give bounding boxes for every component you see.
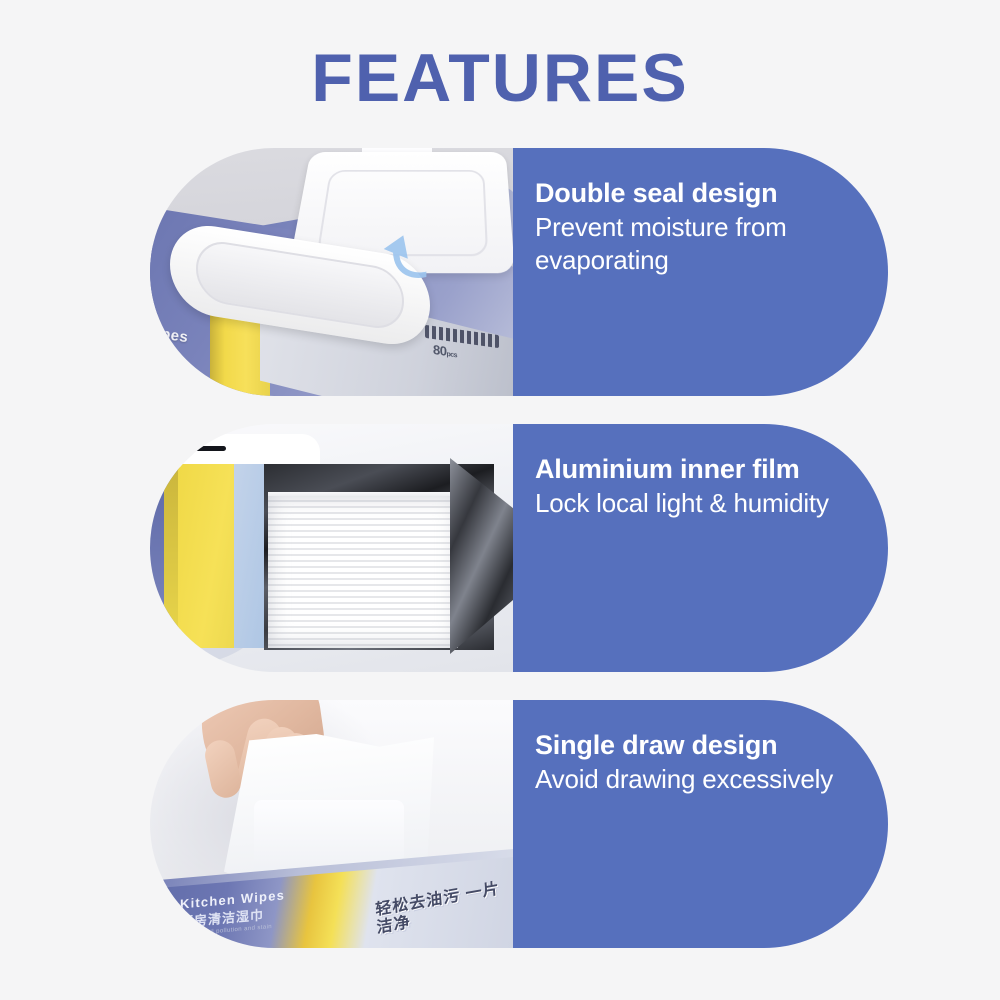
feature-row-single-draw: Kitchen Wipes 厨房清洁湿巾 Remove oil pollutio… — [150, 700, 888, 948]
feature-subtitle: Prevent moisture from evaporating — [535, 211, 848, 277]
feature-subtitle: Lock local light & humidity — [535, 487, 848, 520]
aluminium-film-fold — [450, 458, 513, 654]
badge-count: 80pcs — [433, 342, 457, 360]
feature-row-double-seal: Wipes 80pcs Double seal design Prevent m… — [150, 148, 888, 396]
feature-text-aluminium-inner-film: Aluminium inner film Lock local light & … — [513, 424, 888, 672]
pack-yellow-face — [178, 464, 236, 648]
feature-subtitle: Avoid drawing excessively — [535, 763, 848, 796]
wipes-stack — [268, 496, 458, 648]
feature-photo-single-draw: Kitchen Wipes 厨房清洁湿巾 Remove oil pollutio… — [150, 700, 513, 948]
pack-lightblue-face — [234, 464, 266, 648]
feature-row-aluminium-inner-film: Aluminium inner film Lock local light & … — [150, 424, 888, 672]
feature-title: Double seal design — [535, 178, 848, 210]
page-title: FEATURES — [0, 44, 1000, 112]
badge-count-unit: pcs — [446, 351, 457, 359]
feature-text-double-seal: Double seal design Prevent moisture from… — [513, 148, 888, 396]
features-list: Wipes 80pcs Double seal design Prevent m… — [150, 148, 888, 976]
pack-dispense-slit — [170, 446, 226, 451]
open-direction-arrow-icon — [382, 230, 430, 286]
feature-photo-double-seal: Wipes 80pcs — [150, 148, 513, 396]
feature-title: Single draw design — [535, 730, 848, 762]
badge-count-value: 80 — [433, 342, 446, 359]
feature-text-single-draw: Single draw design Avoid drawing excessi… — [513, 700, 888, 948]
feature-title: Aluminium inner film — [535, 454, 848, 486]
feature-photo-aluminium-inner-film — [150, 424, 513, 672]
